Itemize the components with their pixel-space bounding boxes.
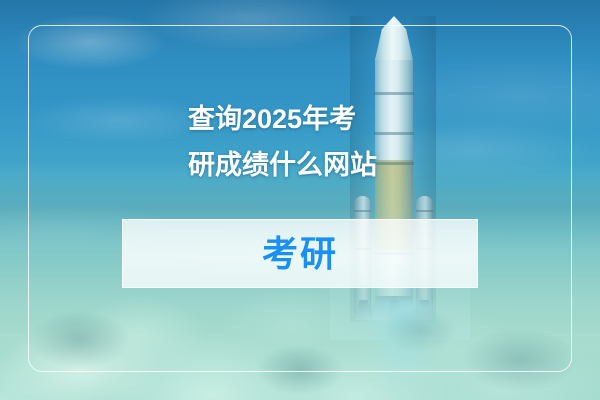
rocket-band [374, 92, 414, 95]
keyword-banner[interactable]: 考研 [122, 219, 478, 288]
rocket-nose-cone [375, 16, 413, 60]
keyword-label: 考研 [262, 236, 338, 272]
page-title: 查询2025年考 研成绩什么网站 [188, 96, 428, 188]
poster-canvas: 查询2025年考 研成绩什么网站 考研 [0, 0, 600, 400]
